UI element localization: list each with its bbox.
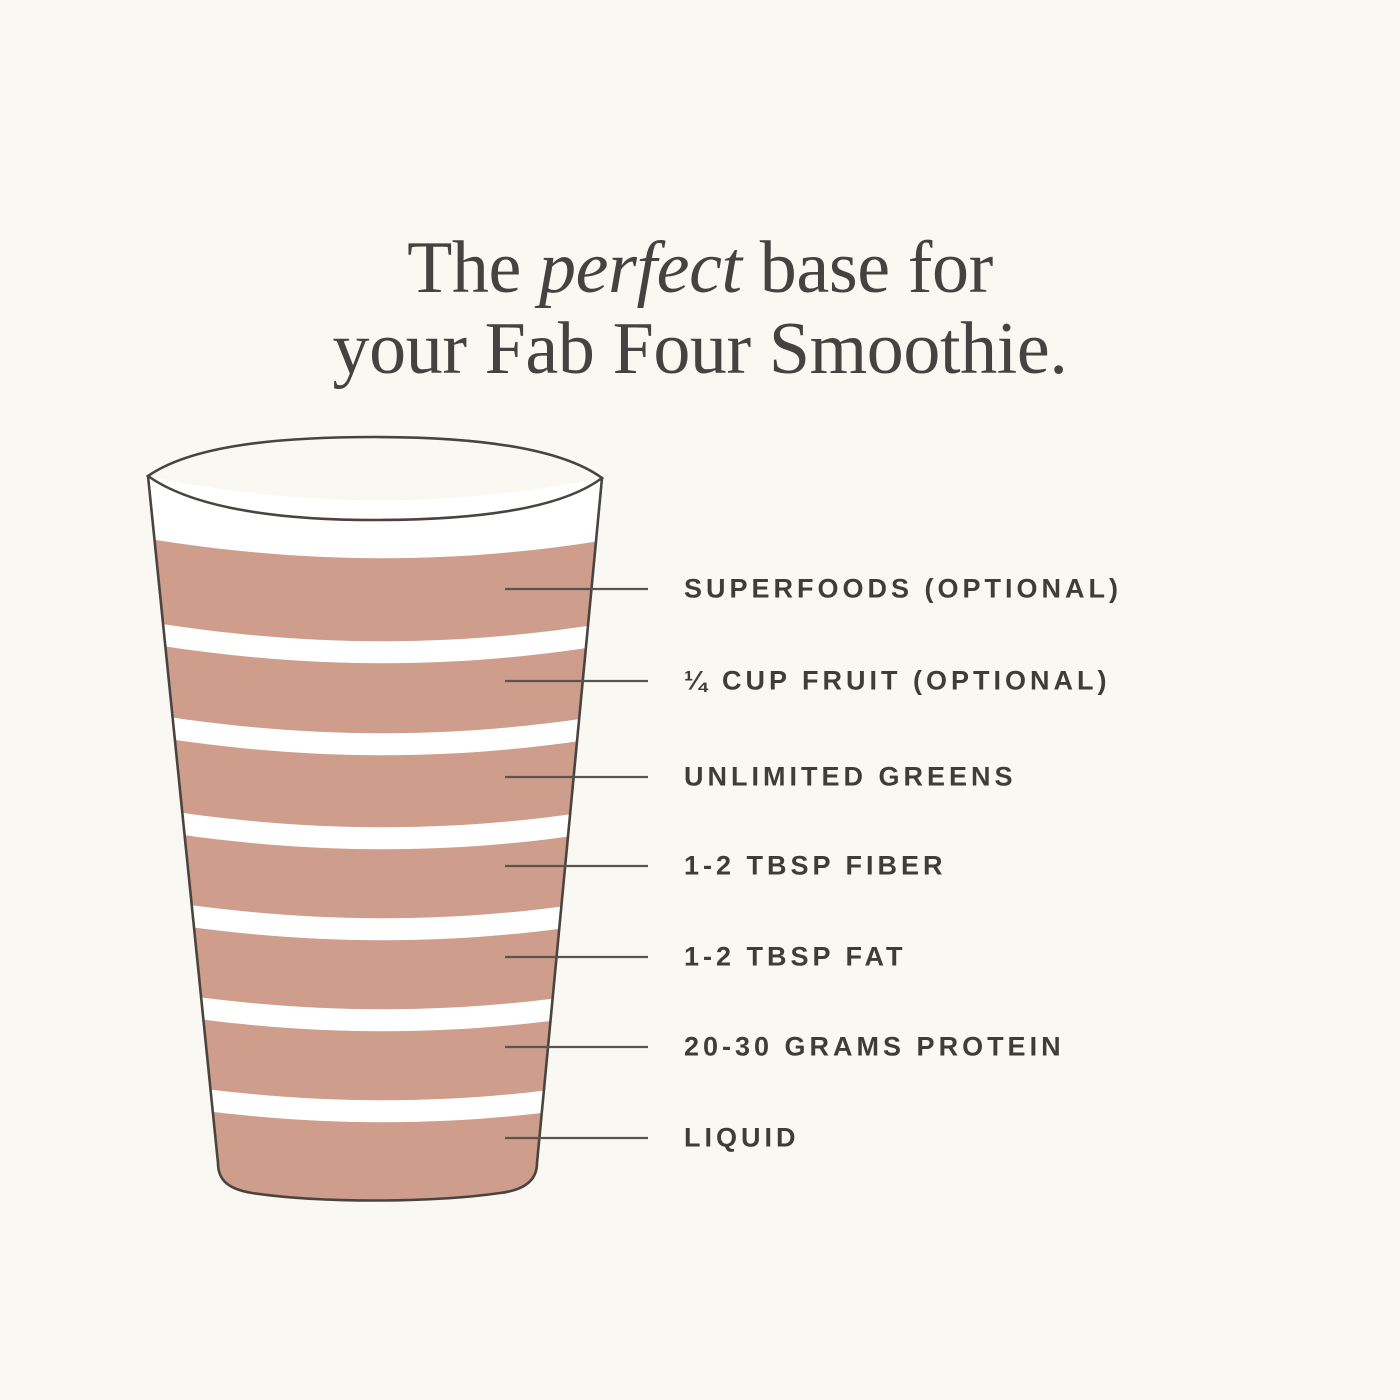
label-liquid: LIQUID (684, 1123, 800, 1154)
layer-labels: SUPERFOODS (OPTIONAL) ¼ CUP FRUIT (OPTIO… (0, 0, 1400, 1400)
label-fiber: 1-2 TBSP FIBER (684, 851, 947, 882)
label-fruit: ¼ CUP FRUIT (OPTIONAL) (684, 666, 1111, 697)
label-fat: 1-2 TBSP FAT (684, 942, 907, 973)
label-greens: UNLIMITED GREENS (684, 762, 1017, 793)
smoothie-infographic: The perfect base for your Fab Four Smoot… (0, 0, 1400, 1400)
label-superfoods: SUPERFOODS (OPTIONAL) (684, 574, 1122, 605)
label-protein: 20-30 GRAMS PROTEIN (684, 1032, 1065, 1063)
